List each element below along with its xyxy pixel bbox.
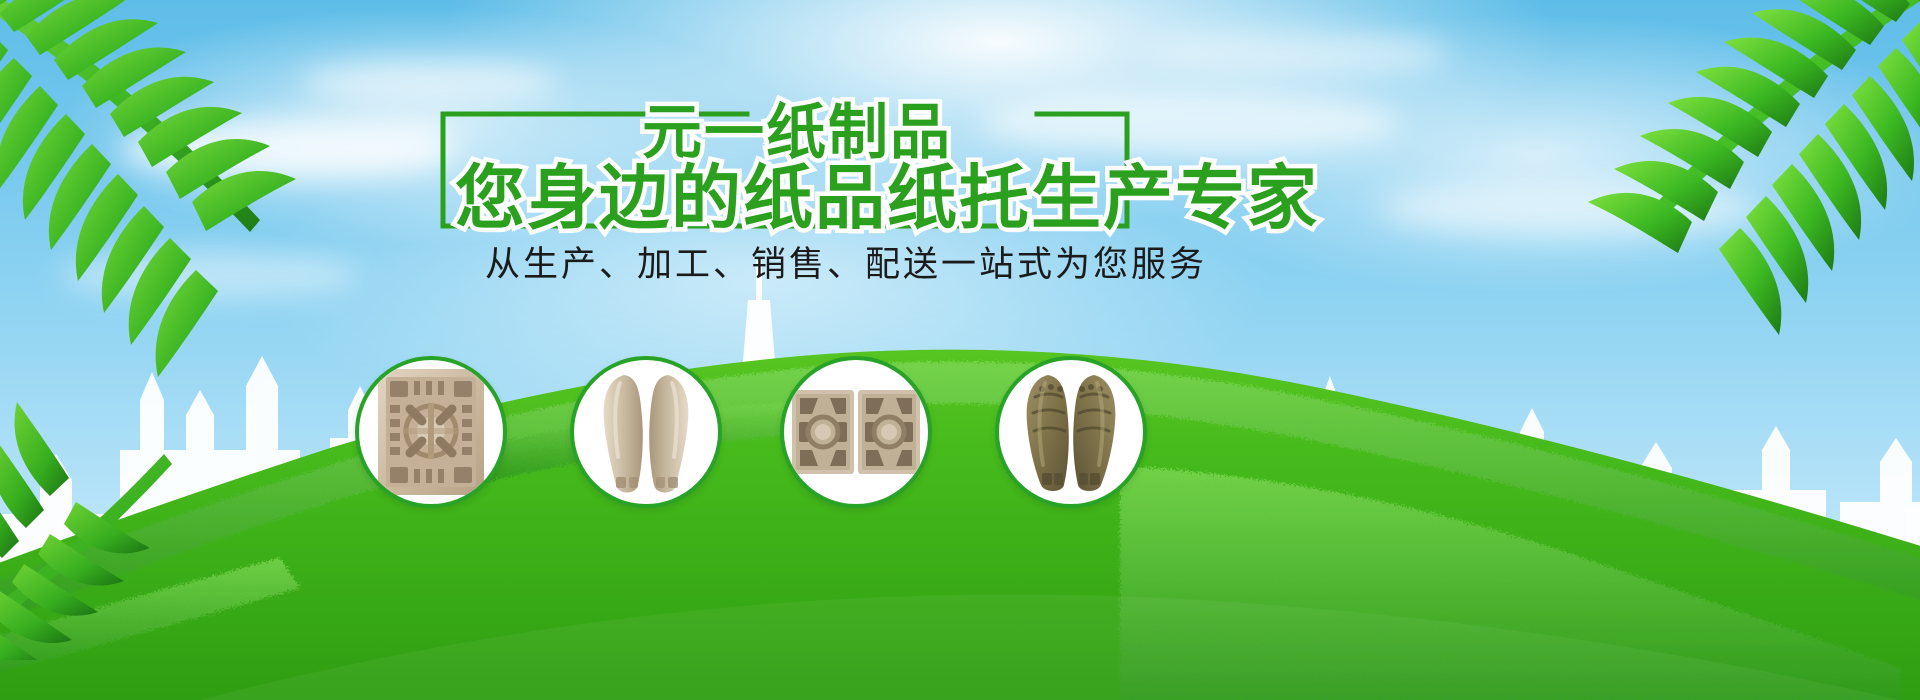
paper-pulp-liner-icon	[790, 384, 922, 480]
product-circle-3[interactable]: 纸托内衬	[780, 356, 932, 508]
palm-leaf-icon	[1480, 0, 1920, 390]
product-circle-1[interactable]: 纸托包装托盘	[355, 356, 507, 508]
product-circle-2[interactable]: 纸浆鞋撑	[570, 356, 722, 508]
paper-pulp-tray-icon	[376, 367, 486, 497]
headline-block: 元一纸制品 您身边的纸品纸托生产专家	[437, 92, 1137, 232]
paper-pulp-shoe-form-icon	[1018, 369, 1124, 495]
cloud-shape	[1150, 30, 1450, 78]
subtitle-text: 从生产、加工、销售、配送一站式为您服务	[485, 236, 1125, 287]
paper-pulp-shoe-tree-icon	[594, 365, 698, 499]
product-showcase: 纸托包装托盘	[355, 356, 1165, 516]
headline-line-2: 您身边的纸品纸托生产专家	[455, 142, 1319, 243]
promo-banner: 元一纸制品 您身边的纸品纸托生产专家 从生产、加工、销售、配送一站式为您服务	[0, 0, 1920, 700]
product-circle-4[interactable]: 环保鞋楦纸托	[995, 356, 1147, 508]
palm-leaf-icon	[0, 330, 240, 660]
